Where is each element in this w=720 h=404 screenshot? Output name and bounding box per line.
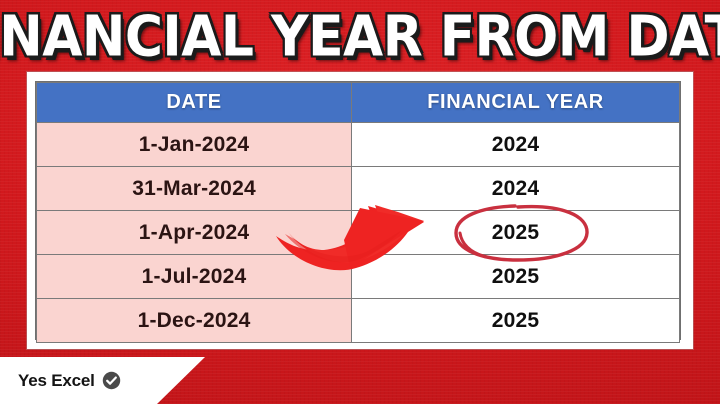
cell-date[interactable]: 1-Jan-2024 (37, 123, 352, 167)
table-row[interactable]: 1-Dec-2024 2025 (37, 299, 680, 343)
table-row[interactable]: 1-Jan-2024 2024 (37, 123, 680, 167)
table-body: 1-Jan-2024 2024 31-Mar-2024 2024 1-Apr-2… (37, 123, 680, 343)
column-header-date: DATE (37, 83, 352, 123)
cell-date[interactable]: 31-Mar-2024 (37, 167, 352, 211)
header-row: DATE FINANCIAL YEAR (37, 83, 680, 123)
cell-financial-year[interactable]: 2024 (352, 123, 680, 167)
title-banner: FINANCIAL YEAR FROM DATE (0, 4, 720, 68)
brand-name: Yes Excel (18, 371, 95, 391)
cell-financial-year[interactable]: 2025 (352, 255, 680, 299)
screenshot-root: FINANCIAL YEAR FROM DATE DATE FINANCIAL … (0, 0, 720, 404)
verified-check-icon (102, 371, 121, 390)
spreadsheet-table[interactable]: DATE FINANCIAL YEAR 1-Jan-2024 2024 31-M… (35, 81, 681, 340)
cell-date[interactable]: 1-Apr-2024 (37, 211, 352, 255)
cell-date[interactable]: 1-Dec-2024 (37, 299, 352, 343)
column-header-financial-year: FINANCIAL YEAR (352, 83, 680, 123)
cell-financial-year[interactable]: 2025 (352, 299, 680, 343)
cell-financial-year[interactable]: 2024 (352, 167, 680, 211)
cell-date[interactable]: 1-Jul-2024 (37, 255, 352, 299)
cell-financial-year-highlighted[interactable]: 2025 (352, 211, 680, 255)
data-table: DATE FINANCIAL YEAR 1-Jan-2024 2024 31-M… (36, 82, 680, 343)
table-header: DATE FINANCIAL YEAR (37, 83, 680, 123)
table-row[interactable]: 31-Mar-2024 2024 (37, 167, 680, 211)
table-row-highlighted[interactable]: 1-Apr-2024 2025 (37, 211, 680, 255)
page-title: FINANCIAL YEAR FROM DATE (0, 8, 720, 64)
table-row[interactable]: 1-Jul-2024 2025 (37, 255, 680, 299)
